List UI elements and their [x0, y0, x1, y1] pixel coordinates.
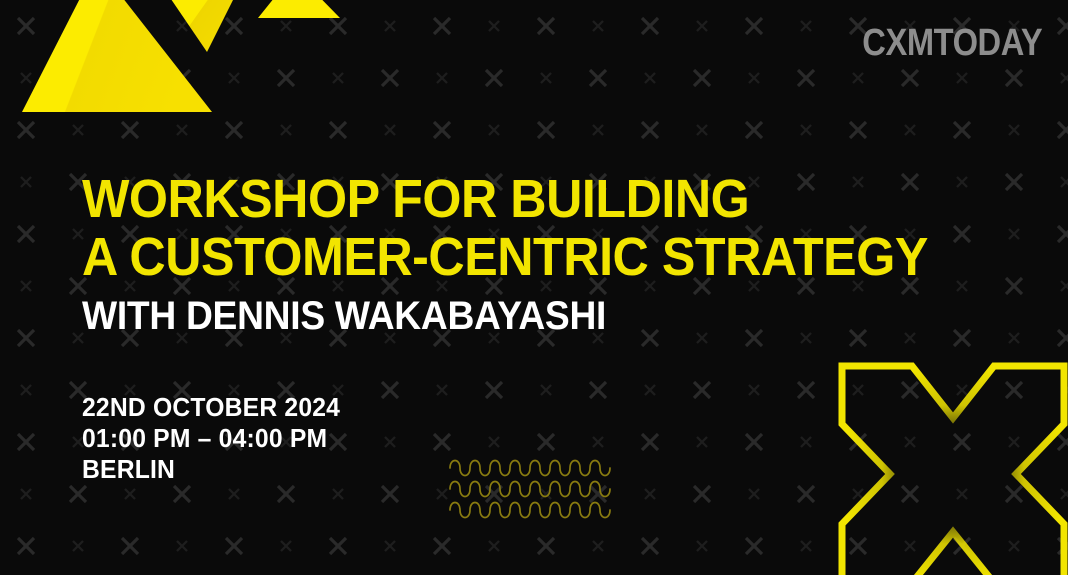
yellow-triangle-cluster [0, 0, 360, 125]
event-date: 22ND OCTOBER 2024 [82, 392, 340, 423]
headline-subtitle: WITH DENNIS WAKABAYASHI [82, 292, 928, 340]
event-time: 01:00 PM – 04:00 PM [82, 423, 340, 454]
headline-line-1: WORKSHOP FOR BUILDING [82, 170, 928, 228]
brand-logo: CXMTODAY [862, 24, 1042, 62]
event-details: 22ND OCTOBER 2024 01:00 PM – 04:00 PM BE… [82, 392, 354, 485]
event-poster: CXMTODAY WORKSHOP FOR BUILDING A CUSTOME… [0, 0, 1068, 575]
wavy-lines-decoration [448, 452, 623, 522]
event-location: BERLIN [82, 454, 340, 485]
x-outline-decoration [838, 362, 1068, 575]
headline-block: WORKSHOP FOR BUILDING A CUSTOMER-CENTRIC… [82, 170, 992, 340]
headline-line-2: A CUSTOMER-CENTRIC STRATEGY [82, 228, 928, 286]
